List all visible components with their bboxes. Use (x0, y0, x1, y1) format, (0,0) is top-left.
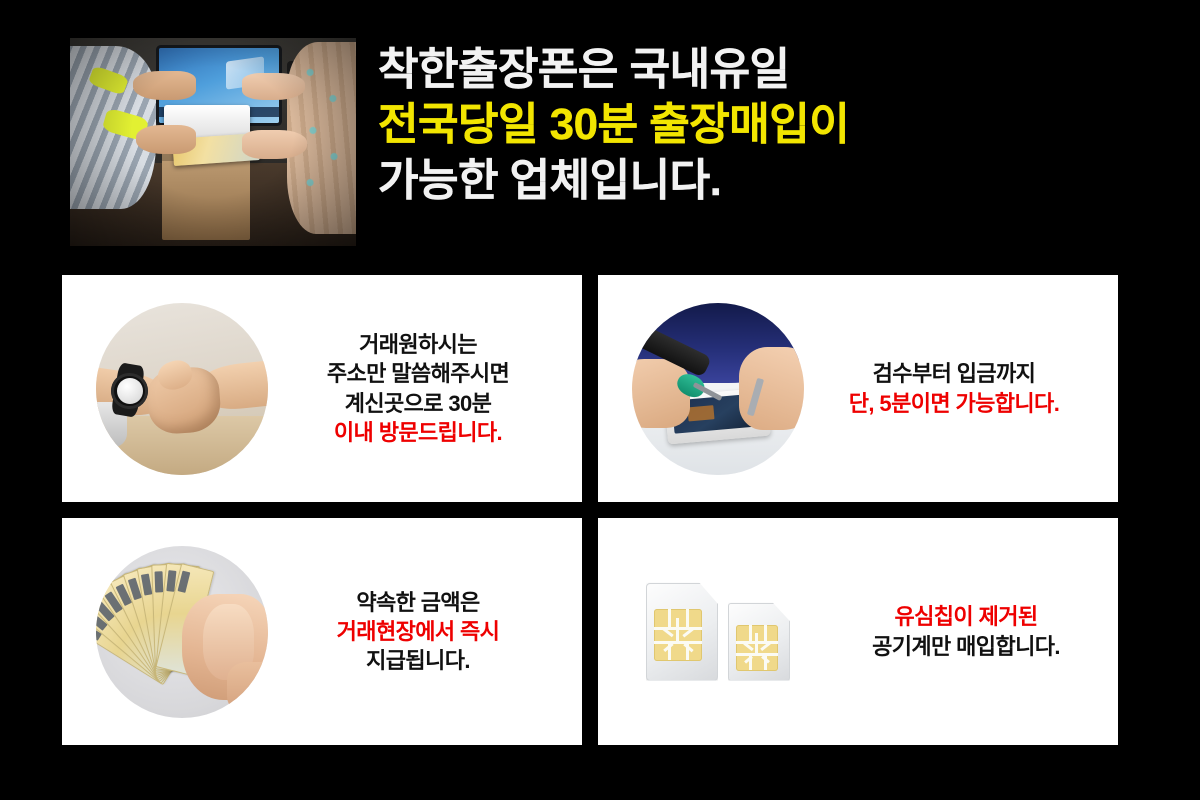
banner-header: 착한출장폰은 국내유일 전국당일 30분 출장매입이 가능한 업체입니다. (0, 0, 1200, 262)
panel-visit-media (62, 303, 268, 475)
wristwatch-face-icon (111, 373, 147, 409)
technician-left-hand (632, 359, 690, 428)
headline-line-3: 가능한 업체입니다. (378, 153, 1138, 208)
feature-panel-grid: 거래원하시는 주소만 말씀해주시면 계신곳으로 30분 이내 방문드립니다. (62, 275, 1118, 730)
panel-payment-line-1: 약속한 금액은 (268, 588, 568, 617)
headline-line-2: 전국당일 30분 출장매입이 (378, 97, 1138, 152)
panel-sim-media (598, 577, 828, 687)
phone-repair-circle-image (632, 303, 804, 475)
panel-visit-text: 거래원하시는 주소만 말씀해주시면 계신곳으로 30분 이내 방문드립니다. (268, 330, 582, 446)
headline-line-1: 착한출장폰은 국내유일 (378, 42, 1138, 97)
panel-sim-line-2: 공기계만 매입합니다. (828, 632, 1104, 661)
panel-payment-line-3: 지급됩니다. (268, 646, 568, 675)
panel-visit-line-3: 계신곳으로 30분 (268, 389, 568, 418)
cash-wrist (227, 662, 268, 714)
panel-visit-line-1: 거래원하시는 (268, 330, 568, 359)
panel-inspection-media (598, 303, 804, 475)
sim-chip-standard-icon (654, 609, 702, 661)
sim-cards-image (640, 577, 828, 687)
panel-payment-media (62, 546, 268, 718)
sim-chip-micro-icon (736, 625, 778, 671)
panel-visit: 거래원하시는 주소만 말씀해주시면 계신곳으로 30분 이내 방문드립니다. (62, 275, 582, 502)
hero-photo-scene (70, 38, 356, 246)
handshake-circle-image (96, 303, 268, 475)
panel-sim-line-1: 유심칩이 제거된 (828, 602, 1104, 631)
panel-inspection-text: 검수부터 입금까지 단, 5분이면 가능합니다. (804, 359, 1118, 417)
panel-inspection-line-2: 단, 5분이면 가능합니다. (804, 389, 1104, 418)
panel-inspection: 검수부터 입금까지 단, 5분이면 가능합니다. (598, 275, 1118, 502)
panel-visit-line-4: 이내 방문드립니다. (268, 418, 568, 447)
page-title: 착한출장폰은 국내유일 전국당일 30분 출장매입이 가능한 업체입니다. (378, 42, 1138, 208)
hero-photo-transaction (70, 38, 356, 246)
cash-fan-circle-image (96, 546, 268, 718)
promo-banner: 착한출장폰은 국내유일 전국당일 30분 출장매입이 가능한 업체입니다. (0, 0, 1200, 800)
panel-payment-text: 약속한 금액은 거래현장에서 즉시 지급됩니다. (268, 588, 582, 675)
panel-payment: 약속한 금액은 거래현장에서 즉시 지급됩니다. (62, 518, 582, 745)
panel-payment-line-2: 거래현장에서 즉시 (268, 617, 568, 646)
sim-chip-traces (654, 609, 702, 661)
sim-chip-traces (736, 625, 778, 671)
panel-visit-line-2: 주소만 말씀해주시면 (268, 359, 568, 388)
panel-sim-text: 유심칩이 제거된 공기계만 매입합니다. (828, 602, 1118, 660)
technician-right-hand (739, 347, 804, 430)
panel-inspection-line-1: 검수부터 입금까지 (804, 359, 1104, 388)
photo-vignette (70, 38, 356, 246)
panel-sim: 유심칩이 제거된 공기계만 매입합니다. (598, 518, 1118, 745)
